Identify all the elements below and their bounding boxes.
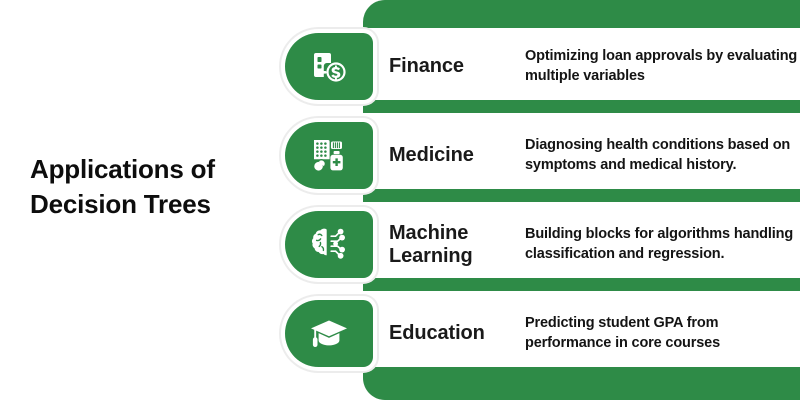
education-graduation-cap-icon (285, 300, 373, 367)
list-item[interactable]: Finance Optimizing loan approvals by eva… (285, 33, 800, 100)
page-title: Applications of Decision Trees (30, 152, 280, 222)
backbone-top-cap (363, 0, 800, 28)
list-item-label: Medicine (389, 122, 517, 189)
list-item-description: Optimizing loan approvals by evaluating … (525, 33, 800, 100)
list-item-label: Education (389, 300, 517, 367)
list-item-label: Machine Learning (389, 211, 517, 278)
infographic-canvas: Applications of Decision Trees (0, 0, 800, 400)
list-item-description: Predicting student GPA from performance … (525, 300, 800, 367)
list-item-label: Finance (389, 33, 517, 100)
machine-learning-brain-circuit-icon (285, 211, 373, 278)
list-item[interactable]: Education Predicting student GPA from pe… (285, 300, 800, 367)
finance-chart-dollar-icon (285, 33, 373, 100)
backbone-divider-1 (363, 100, 800, 113)
backbone-bottom-cap (363, 367, 800, 400)
list-item-description: Building blocks for algorithms handling … (525, 211, 800, 278)
backbone-divider-3 (363, 278, 800, 291)
list-item[interactable]: Medicine Diagnosing health conditions ba… (285, 122, 800, 189)
medicine-pills-bottle-icon (285, 122, 373, 189)
page-title-line-2: Decision Trees (30, 187, 280, 222)
list-item[interactable]: Machine Learning Building blocks for alg… (285, 211, 800, 278)
page-title-line-1: Applications of (30, 152, 280, 187)
backbone-divider-2 (363, 189, 800, 202)
list-item-description: Diagnosing health conditions based on sy… (525, 122, 800, 189)
